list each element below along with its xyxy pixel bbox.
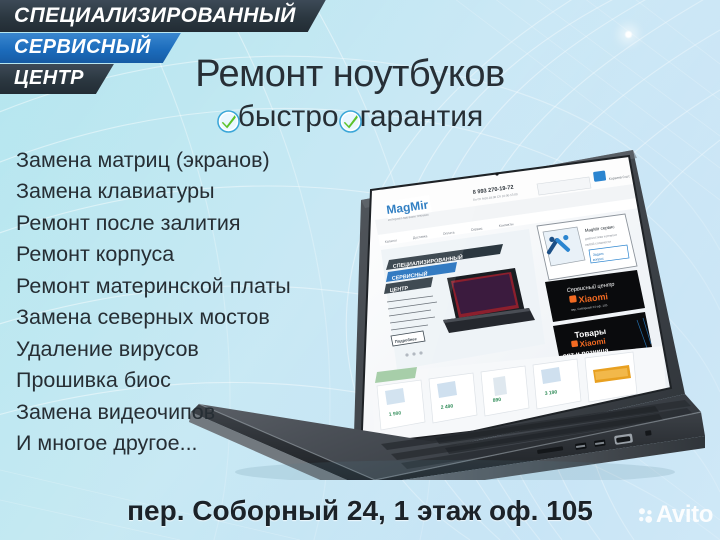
benefit-label-warranty: гарантия xyxy=(360,100,484,134)
badge-row-service: СЕРВИСНЫЙ xyxy=(0,32,326,63)
list-item: Ремонт после залития xyxy=(16,208,291,239)
list-item: Замена видеочипов xyxy=(16,397,291,428)
poster-canvas: СПЕЦИАЛИЗИРОВАННЫЙ СЕРВИСНЫЙ ЦЕНТР Ремон… xyxy=(0,0,720,540)
benefit-label-fast: быстро xyxy=(238,100,339,134)
avito-watermark: Avito xyxy=(637,503,713,527)
badge-center: ЦЕНТР xyxy=(0,64,114,94)
badge-row-specialized: СПЕЦИАЛИЗИРОВАННЫЙ xyxy=(0,0,326,32)
avito-label: Avito xyxy=(656,503,713,527)
list-item: Прошивка биос xyxy=(16,365,291,396)
service-center-badges: СПЕЦИАЛИЗИРОВАННЫЙ СЕРВИСНЫЙ ЦЕНТР xyxy=(0,0,326,94)
list-item: Ремонт материнской платы xyxy=(16,271,291,302)
check-circle-icon xyxy=(217,107,240,130)
badge-row-center: ЦЕНТР xyxy=(0,63,326,94)
glow-dot-decoration xyxy=(624,30,633,39)
list-item: Замена клавиатуры xyxy=(16,176,291,207)
check-circle-icon xyxy=(339,107,362,130)
list-item: Замена северных мостов xyxy=(16,302,291,333)
badge-specialized: СПЕЦИАЛИЗИРОВАННЫЙ xyxy=(0,0,326,32)
address-text: пер. Соборный 24, 1 этаж оф. 105 xyxy=(0,495,720,527)
badge-service: СЕРВИСНЫЙ xyxy=(0,33,181,63)
list-item: Удаление вирусов xyxy=(16,334,291,365)
avito-dots-icon xyxy=(637,507,654,524)
list-item: И многое другое... xyxy=(16,428,291,459)
services-list: Замена матриц (экранов) Замена клавиатур… xyxy=(16,145,291,460)
benefits-row: быстро гарантия xyxy=(140,100,560,134)
list-item: Ремонт корпуса xyxy=(16,239,291,270)
svg-text:890: 890 xyxy=(492,397,501,404)
list-item: Замена матриц (экранов) xyxy=(16,145,291,176)
